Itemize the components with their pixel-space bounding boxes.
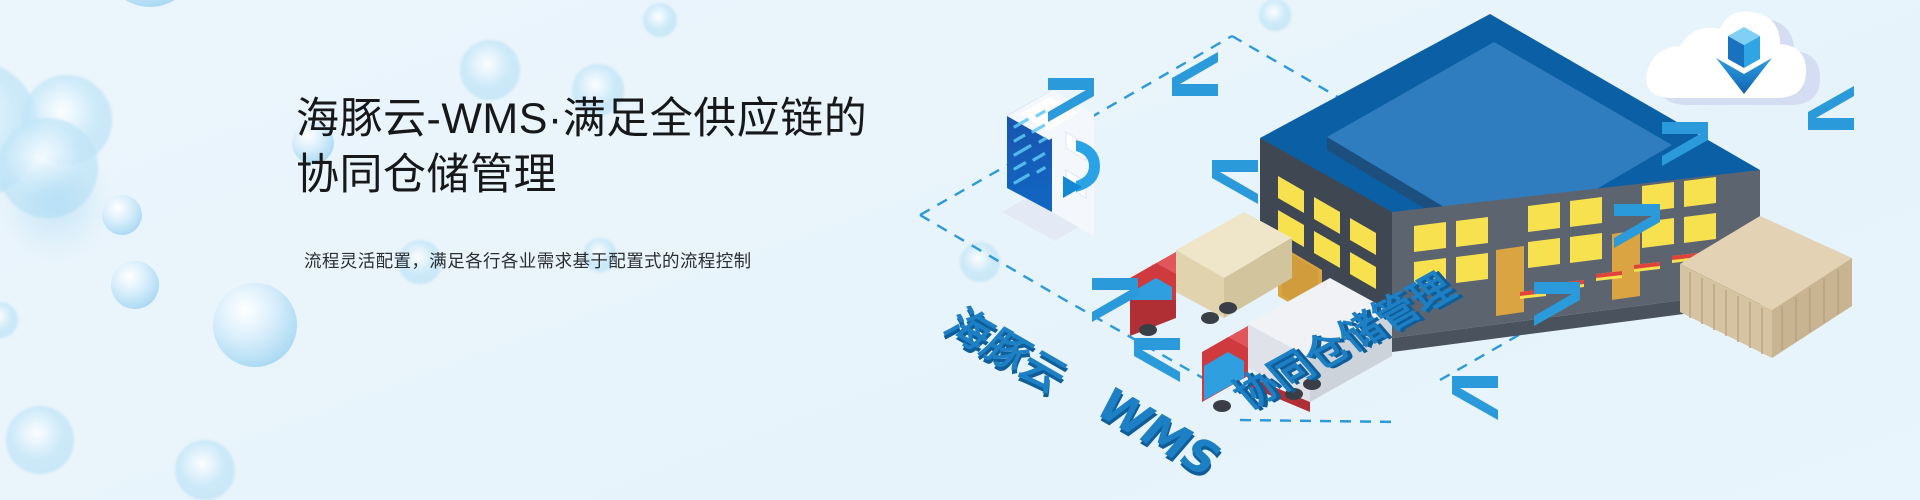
bubble-3 (0, 118, 98, 218)
label-3d-left: 海豚云 海豚云 (933, 300, 1079, 404)
bubble-12 (643, 3, 677, 37)
bubble-5 (102, 195, 142, 235)
warehouse-illustration: 海豚云 海豚云 WMS WMS 协同仓储管理 协同仓储管理 (880, 0, 1920, 500)
bubble-0 (103, 0, 197, 7)
bubble-2 (22, 75, 112, 165)
bubble-17 (6, 406, 74, 474)
cloud-download-icon (1646, 11, 1820, 105)
banner-copy: 海豚云-WMS·满足全供应链的 协同仓储管理 流程灵活配置，满足各行各业需求基于… (296, 92, 936, 273)
bubble-4 (10, 160, 100, 250)
bubble-18 (175, 440, 235, 500)
bubble-10 (460, 40, 520, 100)
banner-subtitle: 流程灵活配置，满足各行各业需求基于配置式的流程控制 (304, 248, 936, 273)
promo-banner: 海豚云-WMS·满足全供应链的 协同仓储管理 流程灵活配置，满足各行各业需求基于… (0, 0, 1920, 500)
banner-title: 海豚云-WMS·满足全供应链的 协同仓储管理 (296, 92, 936, 204)
bubble-8 (213, 283, 297, 367)
bubble-1 (0, 60, 40, 200)
bubble-6 (111, 261, 159, 309)
bubble-7 (0, 302, 18, 338)
